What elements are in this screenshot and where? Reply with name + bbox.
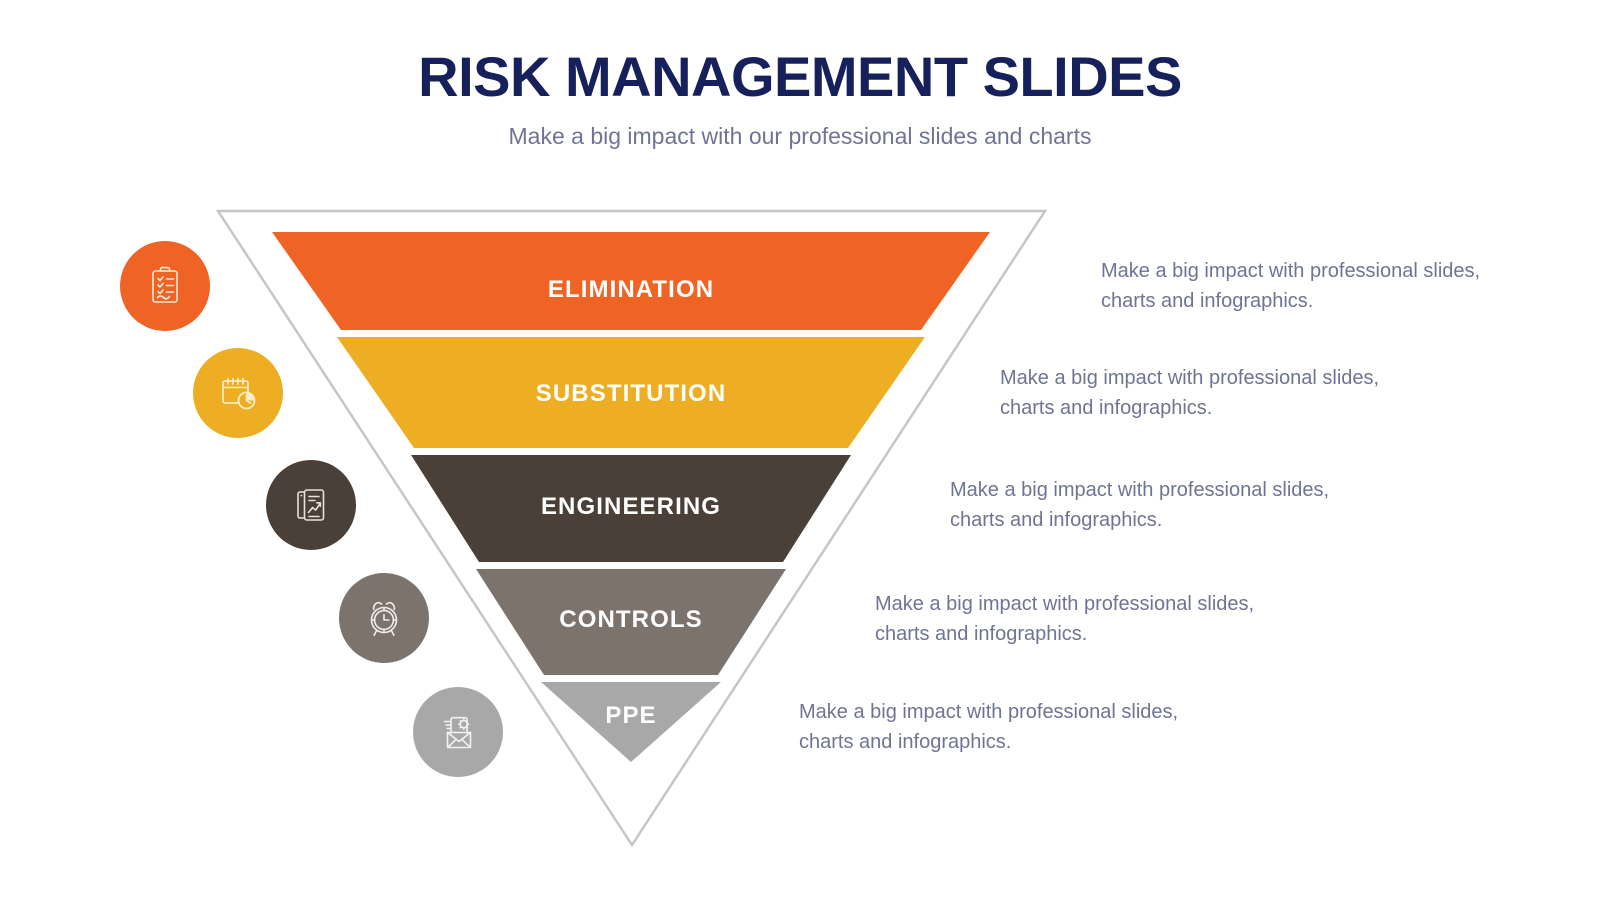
page-header: RISK MANAGEMENT SLIDES Make a big impact…: [0, 0, 1600, 150]
band-label-elimination: ELIMINATION: [548, 276, 714, 304]
band-label-engineering: ENGINEERING: [541, 493, 721, 521]
report-chart-icon: [290, 484, 332, 526]
band-label-substitution: SUBSTITUTION: [536, 380, 727, 408]
funnel-band-controls: [476, 569, 786, 675]
level-icon-substitution[interactable]: [193, 348, 283, 438]
description-text: Make a big impact with professional slid…: [875, 589, 1275, 650]
description-text: Make a big impact with professional slid…: [1101, 256, 1501, 317]
description-text: Make a big impact with professional slid…: [950, 475, 1350, 536]
funnel-band-elimination: [272, 232, 990, 330]
calendar-clock-icon: [217, 372, 259, 414]
level-description-controls: Make a big impact with professional slid…: [875, 589, 1275, 650]
page-subtitle: Make a big impact with our professional …: [0, 123, 1600, 151]
level-icon-engineering[interactable]: [266, 460, 356, 550]
clipboard-checklist-icon: [144, 265, 186, 307]
funnel-band-substitution: [337, 337, 925, 448]
alarm-clock-icon: [362, 596, 406, 640]
level-icon-elimination[interactable]: [120, 241, 210, 331]
level-description-engineering: Make a big impact with professional slid…: [950, 475, 1350, 536]
level-description-substitution: Make a big impact with professional slid…: [1000, 363, 1400, 424]
funnel-band-ppe: [541, 682, 721, 762]
description-text: Make a big impact with professional slid…: [799, 697, 1199, 758]
funnel-band-engineering: [411, 455, 851, 562]
description-text: Make a big impact with professional slid…: [1000, 363, 1400, 424]
level-icon-ppe[interactable]: [413, 687, 503, 777]
level-icon-controls[interactable]: [339, 573, 429, 663]
band-label-controls: CONTROLS: [559, 606, 702, 634]
level-description-elimination: Make a big impact with professional slid…: [1101, 256, 1501, 317]
envelope-settings-icon: [436, 710, 480, 754]
level-description-ppe: Make a big impact with professional slid…: [799, 697, 1199, 758]
page-title: RISK MANAGEMENT SLIDES: [0, 48, 1600, 107]
band-label-ppe: PPE: [605, 702, 656, 730]
